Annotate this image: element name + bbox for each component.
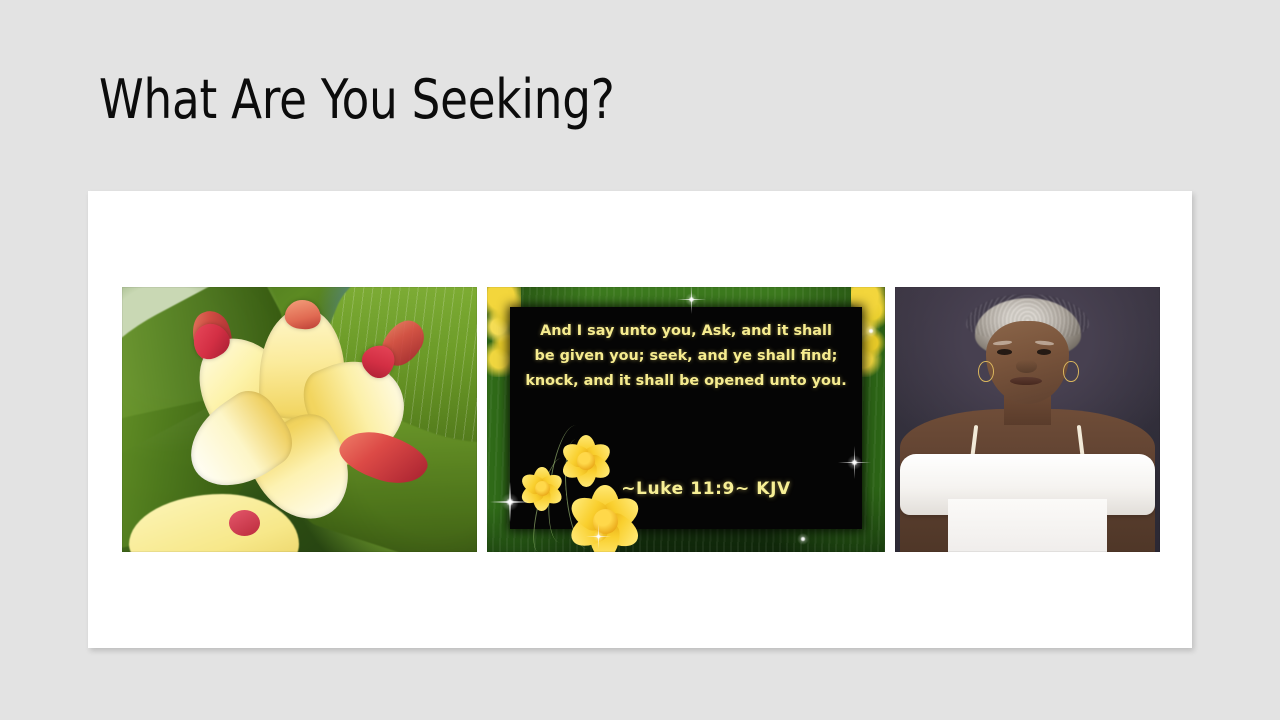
sparkle-icon — [501, 493, 519, 511]
verse-text-panel: And I say unto you, Ask, and it shall be… — [510, 307, 862, 530]
woman-portrait-image[interactable] — [895, 287, 1160, 552]
presentation-slide: What Are You Seeking? — [0, 0, 1280, 720]
earring-icon — [978, 361, 993, 382]
verse-line: be given you; seek, and ye shall find; — [516, 344, 856, 369]
plumeria-flower-image[interactable] — [122, 287, 477, 552]
earring-icon — [1063, 361, 1078, 382]
eye-shape — [997, 349, 1012, 355]
sparkle-icon — [593, 531, 604, 542]
slide-content-panel: And I say unto you, Ask, and it shall be… — [88, 191, 1192, 648]
nose-shape — [1016, 360, 1037, 373]
picture-row: And I say unto you, Ask, and it shall be… — [88, 191, 1192, 648]
sparkle-icon — [797, 533, 809, 545]
daffodil-icon — [568, 485, 642, 552]
verse-line: knock, and it shall be opened unto you. — [516, 369, 856, 394]
bible-verse-image[interactable]: And I say unto you, Ask, and it shall be… — [487, 287, 885, 552]
daffodil-icon — [520, 467, 564, 511]
sparkle-icon — [865, 325, 877, 337]
sparkle-icon — [847, 455, 862, 470]
sparkle-icon — [685, 293, 698, 306]
verse-line: And I say unto you, Ask, and it shall — [516, 319, 856, 344]
verse-text: And I say unto you, Ask, and it shall be… — [510, 319, 862, 394]
mouth-shape — [1010, 377, 1042, 385]
page-title: What Are You Seeking? — [99, 68, 615, 132]
white-top-body — [948, 499, 1107, 552]
daffodil-icon — [560, 435, 612, 487]
